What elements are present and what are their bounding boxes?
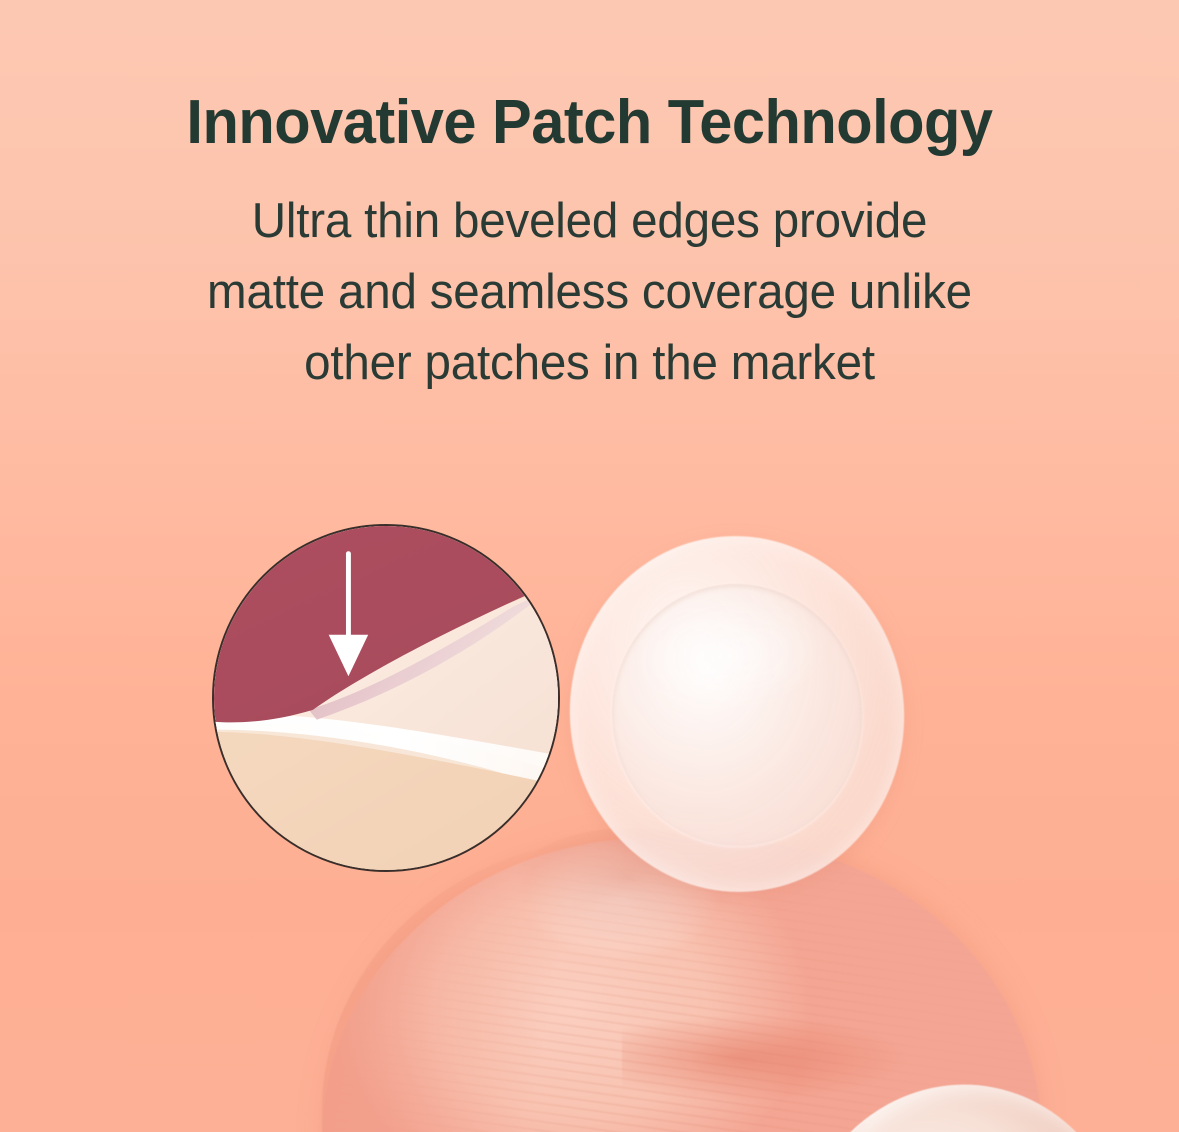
page-subtitle: Ultra thin beveled edges provide matte a… xyxy=(18,160,1162,399)
patch-inner-circle xyxy=(599,572,875,859)
page-title: Innovative Patch Technology xyxy=(24,86,1156,160)
cross-section-illustration xyxy=(214,526,558,870)
subtitle-line-1: Ultra thin beveled edges provide xyxy=(18,186,1162,257)
subtitle-line-3: other patches in the market xyxy=(18,328,1162,399)
magnified-cross-section-circle xyxy=(212,524,560,872)
promo-poster: Innovative Patch Technology Ultra thin b… xyxy=(0,0,1179,1132)
finger xyxy=(322,838,1042,1132)
subtitle-line-2: matte and seamless coverage unlike xyxy=(18,257,1162,328)
headline-block: Innovative Patch Technology Ultra thin b… xyxy=(0,86,1179,399)
patch-sheen-highlight xyxy=(631,591,831,720)
